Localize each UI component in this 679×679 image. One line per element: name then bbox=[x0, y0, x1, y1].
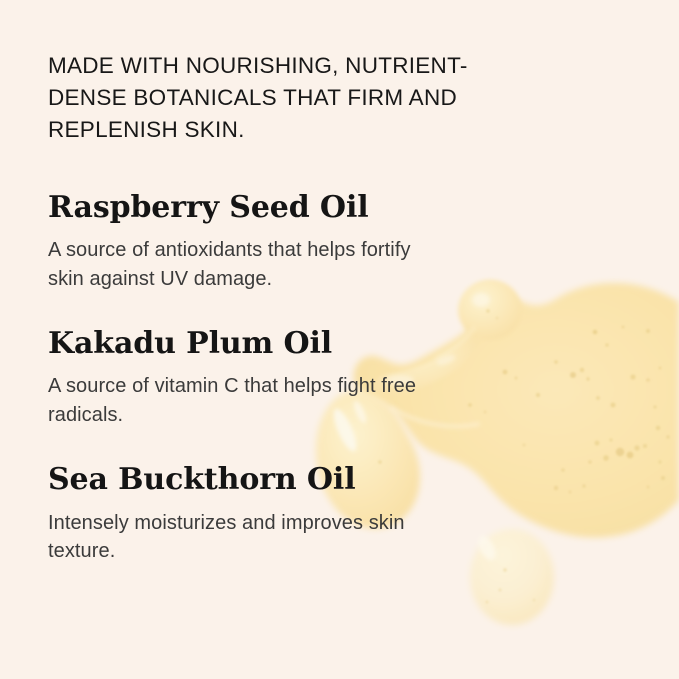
ingredient-panel: MADE WITH NOURISHING, NUTRIENT-DENSE BOT… bbox=[0, 0, 679, 679]
ingredient-item-sea-buckthorn-oil: Sea Buckthorn Oil Intensely moisturizes … bbox=[48, 462, 518, 565]
ingredient-description: A source of antioxidants that helps fort… bbox=[48, 236, 448, 293]
page-headline: MADE WITH NOURISHING, NUTRIENT-DENSE BOT… bbox=[48, 50, 498, 146]
content-column: MADE WITH NOURISHING, NUTRIENT-DENSE BOT… bbox=[48, 50, 518, 565]
ingredient-item-kakadu-plum-oil: Kakadu Plum Oil A source of vitamin C th… bbox=[48, 326, 518, 429]
ingredient-name: Sea Buckthorn Oil bbox=[48, 462, 518, 497]
ingredient-item-raspberry-seed-oil: Raspberry Seed Oil A source of antioxida… bbox=[48, 190, 518, 293]
ingredient-name: Kakadu Plum Oil bbox=[48, 326, 518, 361]
ingredient-description: A source of vitamin C that helps fight f… bbox=[48, 372, 448, 429]
ingredient-description: Intensely moisturizes and improves skin … bbox=[48, 509, 448, 566]
ingredient-name: Raspberry Seed Oil bbox=[48, 190, 518, 225]
